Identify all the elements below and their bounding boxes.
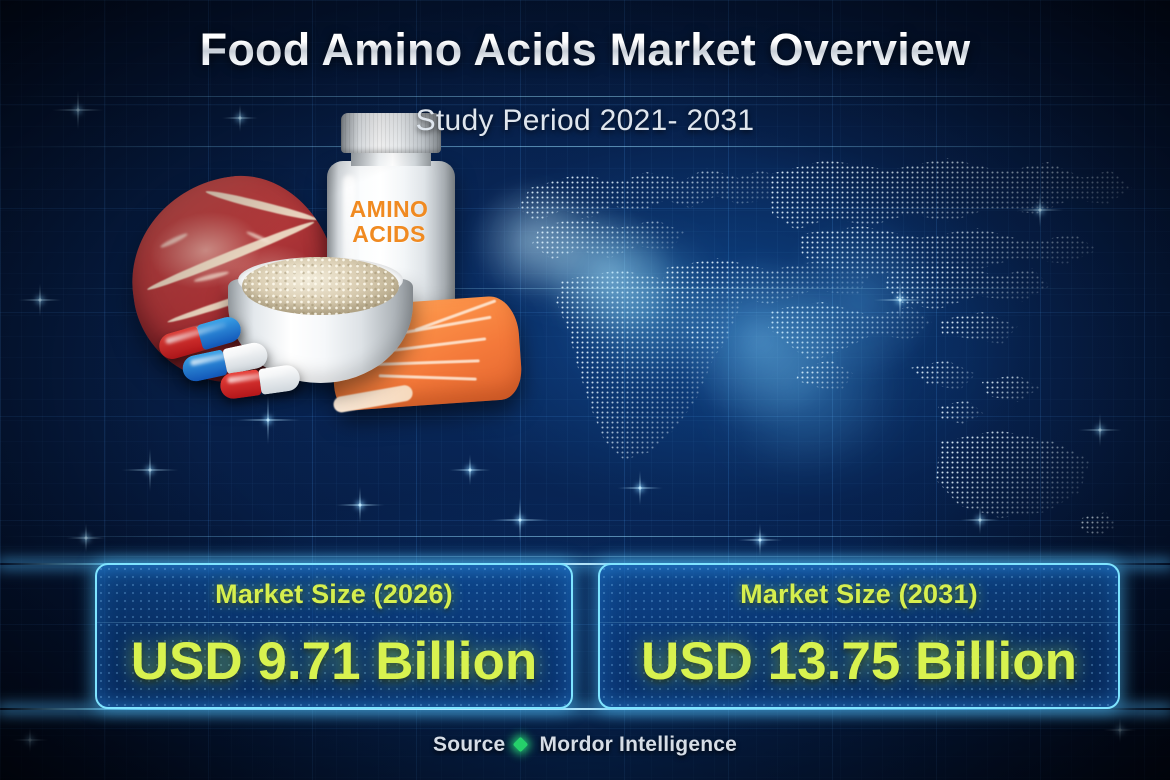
map-glow [430, 90, 1170, 590]
study-period-subtitle: Study Period 2021- 2031 [0, 104, 1170, 138]
capsules-image [158, 323, 318, 403]
stat-boxes-row: Market Size (2026) USD 9.71 Billion Mark… [0, 563, 1170, 711]
stat-card-2026[interactable]: Market Size (2026) USD 9.71 Billion [95, 563, 573, 709]
stat-label: Market Size (2026) [97, 579, 571, 610]
page-title: Food Amino Acids Market Overview [0, 24, 1170, 76]
world-map [470, 130, 1170, 550]
source-name: Mordor Intelligence [540, 733, 738, 756]
source-label: Source [433, 733, 505, 756]
source-attribution: Source Mordor Intelligence [0, 733, 1170, 757]
stat-card-divider [600, 622, 1118, 623]
mordor-diamond-icon [513, 737, 529, 753]
bottle-label: AMINO ACIDS [325, 197, 453, 247]
product-composition: AMINO ACIDS [120, 105, 520, 415]
stat-card-2031[interactable]: Market Size (2031) USD 13.75 Billion [598, 563, 1120, 709]
stat-label: Market Size (2031) [600, 579, 1118, 610]
stat-value: USD 9.71 Billion [97, 631, 571, 692]
infographic-canvas: AMINO ACIDS [0, 0, 1170, 780]
bottle-label-line2: ACIDS [325, 222, 453, 247]
stat-value: USD 13.75 Billion [600, 631, 1118, 692]
stat-card-divider [97, 622, 571, 623]
bottle-label-line1: AMINO [325, 197, 453, 222]
